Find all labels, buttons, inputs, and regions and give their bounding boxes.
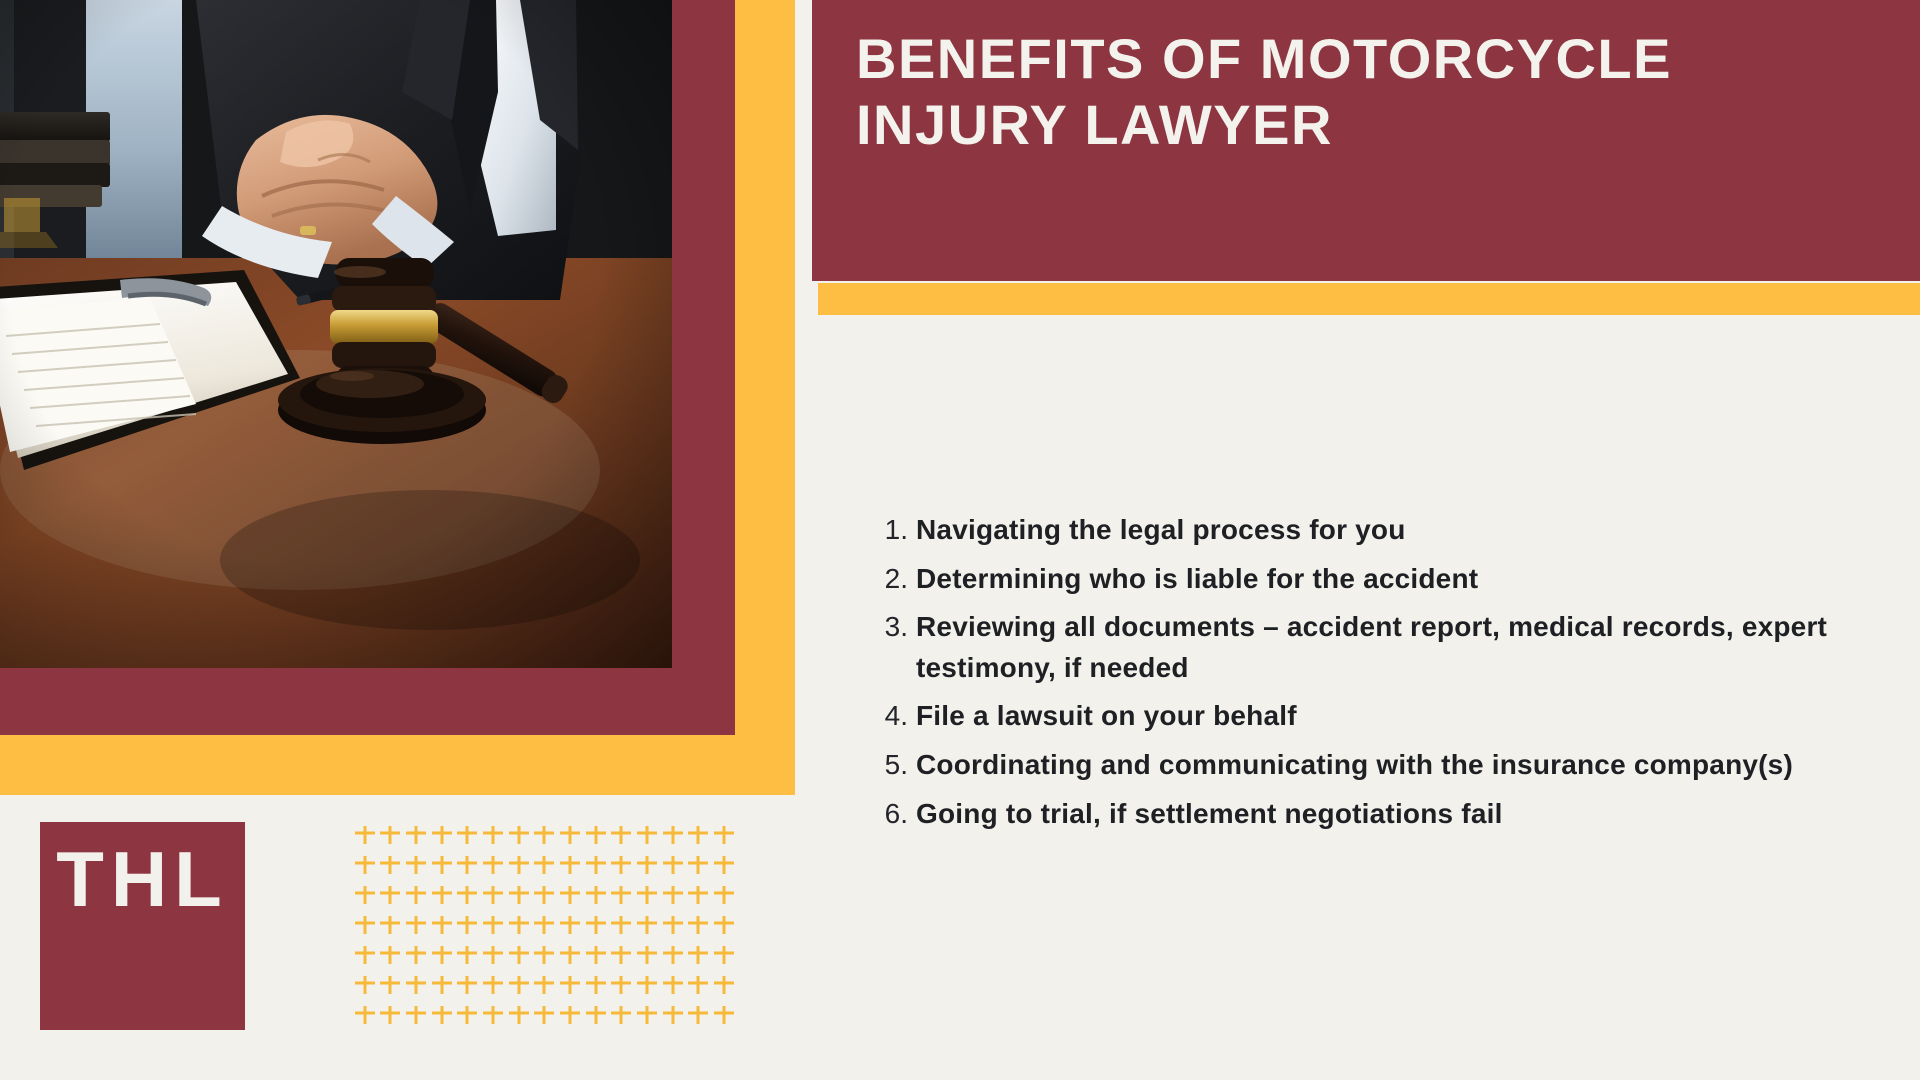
plus-icon — [403, 972, 429, 1002]
plus-icon — [352, 1002, 378, 1032]
plus-icon — [583, 1002, 609, 1032]
plus-icon — [480, 972, 506, 1002]
plus-icon — [532, 1002, 558, 1032]
benefit-item-number: 1. — [880, 510, 916, 551]
plus-icon — [660, 942, 686, 972]
benefits-list: 1.Navigating the legal process for you2.… — [880, 510, 1860, 842]
benefit-item-text: File a lawsuit on your behalf — [916, 696, 1860, 737]
plus-icon — [609, 972, 635, 1002]
benefit-list-item: 4.File a lawsuit on your behalf — [880, 696, 1860, 737]
plus-icon — [660, 882, 686, 912]
plus-icon — [660, 822, 686, 852]
plus-icon — [660, 912, 686, 942]
plus-icon — [352, 972, 378, 1002]
plus-icon — [455, 912, 481, 942]
plus-icon — [352, 912, 378, 942]
plus-icon — [429, 912, 455, 942]
plus-icon — [480, 852, 506, 882]
benefit-item-number: 2. — [880, 559, 916, 600]
plus-icon — [634, 852, 660, 882]
plus-icon — [403, 852, 429, 882]
plus-icon — [711, 942, 737, 972]
plus-icon — [378, 912, 404, 942]
benefit-list-item: 3.Reviewing all documents – accident rep… — [880, 607, 1860, 688]
plus-icon — [352, 852, 378, 882]
plus-icon — [506, 852, 532, 882]
plus-icon — [711, 1002, 737, 1032]
plus-icon — [583, 942, 609, 972]
plus-icon — [557, 972, 583, 1002]
plus-icon — [378, 852, 404, 882]
benefit-item-number: 6. — [880, 794, 916, 835]
plus-icon — [583, 972, 609, 1002]
plus-icon — [711, 822, 737, 852]
benefit-item-number: 4. — [880, 696, 916, 737]
plus-icon — [660, 852, 686, 882]
plus-icon — [403, 942, 429, 972]
plus-icon — [352, 882, 378, 912]
title-yellow-accent-bar — [818, 283, 1920, 315]
plus-icon — [609, 942, 635, 972]
plus-icon — [506, 972, 532, 1002]
plus-icon — [378, 972, 404, 1002]
plus-icon — [455, 1002, 481, 1032]
plus-icon — [660, 1002, 686, 1032]
plus-icon — [403, 912, 429, 942]
plus-icon — [455, 972, 481, 1002]
plus-icon — [506, 1002, 532, 1032]
plus-icon — [609, 882, 635, 912]
plus-icon — [455, 822, 481, 852]
benefit-item-text: Determining who is liable for the accide… — [916, 559, 1860, 600]
plus-decoration-grid — [352, 822, 737, 1032]
plus-icon — [557, 882, 583, 912]
plus-icon — [506, 822, 532, 852]
lawyer-photo-illustration — [0, 0, 672, 668]
plus-icon — [557, 822, 583, 852]
plus-icon — [532, 882, 558, 912]
plus-icon — [506, 942, 532, 972]
benefit-item-number: 3. — [880, 607, 916, 648]
benefit-list-item: 5.Coordinating and communicating with th… — [880, 745, 1860, 786]
plus-icon — [403, 822, 429, 852]
page-title: BENEFITS OF MOTORCYCLE INJURY LAWYER — [856, 26, 1890, 157]
plus-icon — [686, 912, 712, 942]
plus-icon — [686, 1002, 712, 1032]
plus-icon — [686, 882, 712, 912]
plus-icon — [711, 852, 737, 882]
benefit-list-item: 2.Determining who is liable for the acci… — [880, 559, 1860, 600]
thl-logo-text: THL — [40, 840, 245, 918]
plus-icon — [634, 822, 660, 852]
plus-icon — [429, 822, 455, 852]
plus-icon — [711, 882, 737, 912]
plus-icon — [532, 912, 558, 942]
plus-icon — [532, 822, 558, 852]
plus-icon — [506, 912, 532, 942]
plus-icon — [403, 1002, 429, 1032]
plus-icon — [686, 822, 712, 852]
plus-icon — [378, 882, 404, 912]
plus-icon — [532, 942, 558, 972]
plus-icon — [634, 912, 660, 942]
plus-icon — [455, 852, 481, 882]
plus-icon — [455, 882, 481, 912]
plus-icon — [532, 972, 558, 1002]
thl-logo[interactable]: THL — [40, 822, 245, 1030]
benefit-item-text: Navigating the legal process for you — [916, 510, 1860, 551]
plus-icon — [686, 942, 712, 972]
plus-icon — [352, 822, 378, 852]
plus-icon — [506, 882, 532, 912]
plus-icon — [609, 912, 635, 942]
plus-icon — [609, 822, 635, 852]
lawyer-photo — [0, 0, 672, 668]
benefit-list-item: 1.Navigating the legal process for you — [880, 510, 1860, 551]
plus-icon — [429, 972, 455, 1002]
plus-icon — [557, 852, 583, 882]
plus-icon — [378, 1002, 404, 1032]
plus-icon — [686, 852, 712, 882]
benefit-item-text: Coordinating and communicating with the … — [916, 745, 1860, 786]
plus-icon — [429, 1002, 455, 1032]
plus-icon — [609, 852, 635, 882]
benefit-item-text: Reviewing all documents – accident repor… — [916, 607, 1860, 688]
plus-icon — [429, 882, 455, 912]
plus-icon — [480, 1002, 506, 1032]
plus-icon — [634, 942, 660, 972]
title-banner: BENEFITS OF MOTORCYCLE INJURY LAWYER — [812, 0, 1920, 281]
plus-icon — [429, 942, 455, 972]
plus-icon — [480, 882, 506, 912]
plus-icon — [378, 822, 404, 852]
plus-icon — [557, 1002, 583, 1032]
plus-icon — [403, 882, 429, 912]
plus-icon — [634, 1002, 660, 1032]
plus-icon — [583, 852, 609, 882]
plus-icon — [583, 882, 609, 912]
plus-icon — [480, 912, 506, 942]
benefit-item-number: 5. — [880, 745, 916, 786]
plus-icon — [532, 852, 558, 882]
plus-icon — [583, 912, 609, 942]
plus-icon — [480, 822, 506, 852]
plus-icon — [660, 972, 686, 1002]
plus-icon — [455, 942, 481, 972]
plus-icon — [378, 942, 404, 972]
plus-icon — [686, 972, 712, 1002]
plus-icon — [711, 972, 737, 1002]
plus-icon — [634, 972, 660, 1002]
plus-icon — [352, 942, 378, 972]
benefit-list-item: 6.Going to trial, if settlement negotiat… — [880, 794, 1860, 835]
plus-icon — [429, 852, 455, 882]
plus-icon — [480, 942, 506, 972]
plus-icon — [583, 822, 609, 852]
benefit-item-text: Going to trial, if settlement negotiatio… — [916, 794, 1860, 835]
plus-icon — [557, 942, 583, 972]
plus-icon — [634, 882, 660, 912]
benefits-ordered-list: 1.Navigating the legal process for you2.… — [880, 510, 1860, 834]
plus-icon — [557, 912, 583, 942]
plus-icon — [711, 912, 737, 942]
plus-icon — [609, 1002, 635, 1032]
